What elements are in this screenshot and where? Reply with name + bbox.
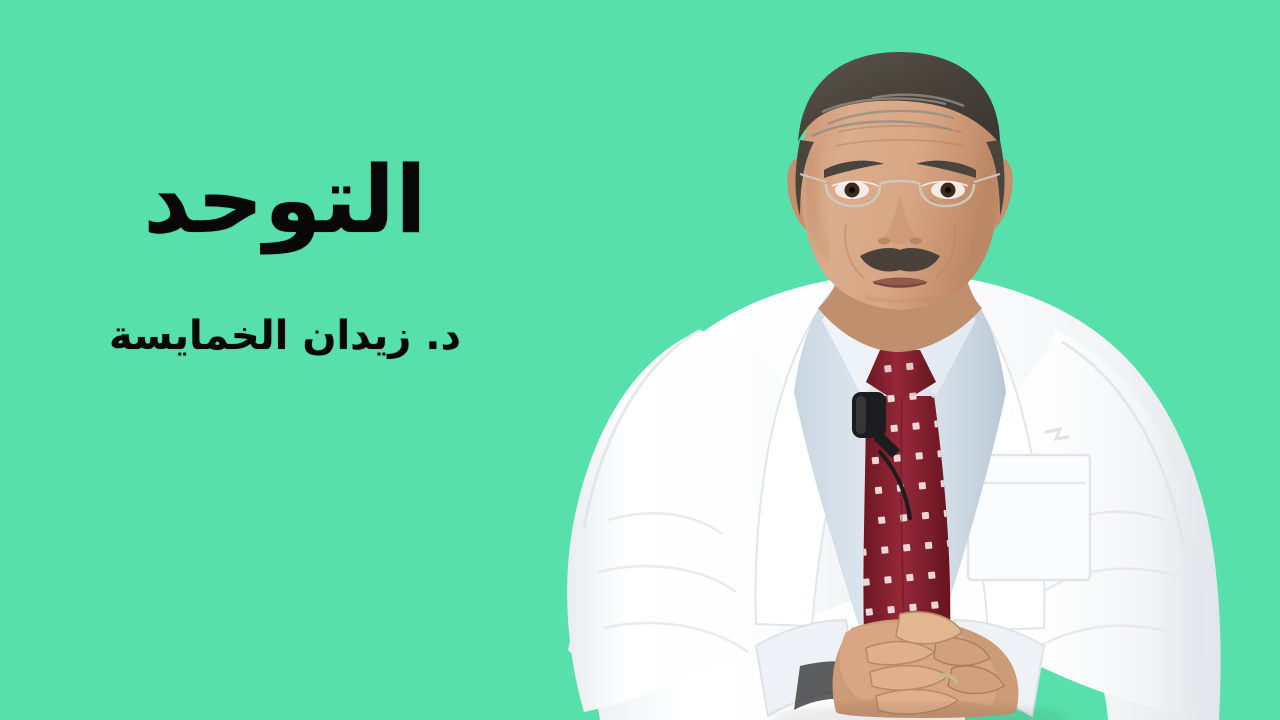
presenter-name: د. زيدان الخمايسة bbox=[0, 314, 570, 358]
thumbnail-canvas: التوحد د. زيدان الخمايسة bbox=[0, 0, 1280, 720]
page-title: التوحد bbox=[0, 150, 570, 250]
hands bbox=[756, 612, 1044, 718]
head bbox=[787, 52, 1013, 310]
title-block: التوحد د. زيدان الخمايسة bbox=[0, 150, 570, 358]
doctor-portrait bbox=[0, 0, 1280, 720]
